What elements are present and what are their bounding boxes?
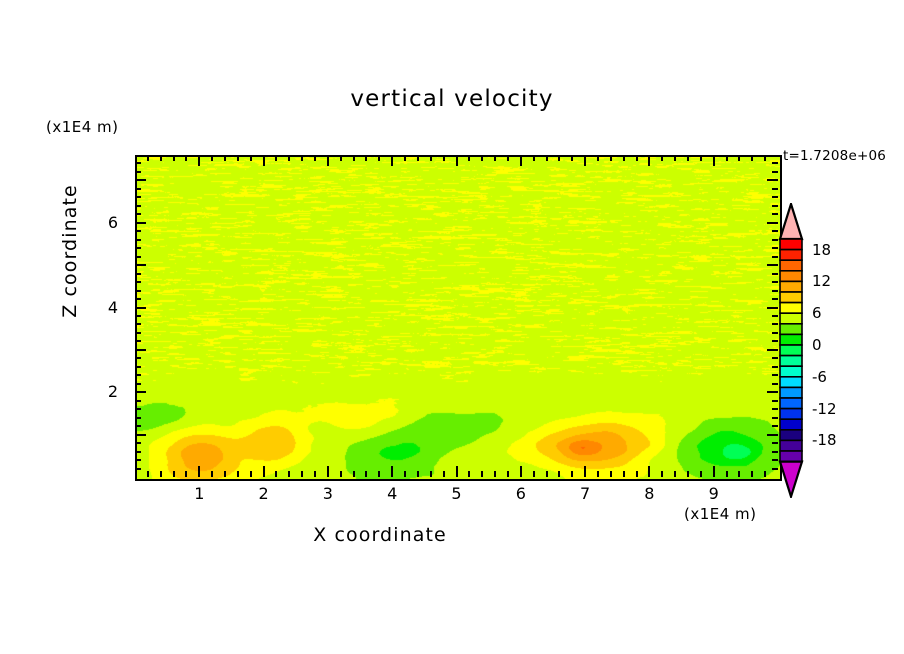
colorbar-band: [780, 324, 802, 335]
x-tick-label: 7: [570, 484, 600, 503]
colorbar-gradient: [778, 203, 804, 498]
colorbar-tick-label: 18: [812, 241, 831, 259]
colorbar-over-arrow: [780, 204, 802, 239]
x-axis-unit-label: (x1E4 m): [684, 505, 757, 523]
page-title: vertical velocity: [0, 86, 904, 112]
colorbar-band: [780, 419, 802, 430]
colorbar-band: [780, 440, 802, 451]
colorbar-band: [780, 451, 802, 462]
colorbar-band: [780, 260, 802, 271]
colorbar: 181260-6-12-18: [778, 203, 804, 498]
colorbar-band: [780, 366, 802, 377]
colorbar-tick-label: 6: [812, 304, 822, 322]
x-axis-title: X coordinate: [0, 524, 760, 546]
contour-field: [137, 157, 780, 479]
x-tick-label: 4: [377, 484, 407, 503]
colorbar-band: [780, 387, 802, 398]
figure-root: vertical velocity (x1E4 m) t=1.7208e+06 …: [0, 0, 904, 654]
y-tick-label: 4: [96, 298, 118, 317]
y-tick-label: 2: [96, 382, 118, 401]
plot-area: [135, 155, 782, 481]
y-axis-title: Z coordinate: [59, 151, 81, 351]
colorbar-under-arrow: [780, 462, 802, 497]
y-axis-unit-label: (x1E4 m): [46, 118, 119, 136]
y-tick-label: 6: [96, 213, 118, 232]
x-tick-label: 9: [699, 484, 729, 503]
colorbar-tick-label: -18: [812, 431, 837, 449]
colorbar-band: [780, 345, 802, 356]
colorbar-band: [780, 398, 802, 409]
x-tick-label: 5: [442, 484, 472, 503]
colorbar-tick-label: -6: [812, 368, 827, 386]
colorbar-band: [780, 292, 802, 303]
x-tick-label: 1: [184, 484, 214, 503]
colorbar-band: [780, 377, 802, 388]
colorbar-band: [780, 281, 802, 292]
x-tick-label: 2: [249, 484, 279, 503]
colorbar-band: [780, 303, 802, 314]
colorbar-tick-label: 0: [812, 336, 822, 354]
time-annotation: t=1.7208e+06: [783, 148, 886, 164]
colorbar-band: [780, 271, 802, 282]
x-tick-label: 6: [506, 484, 536, 503]
colorbar-tick-label: 12: [812, 272, 831, 290]
colorbar-band: [780, 250, 802, 261]
colorbar-band: [780, 409, 802, 420]
x-tick-label: 3: [313, 484, 343, 503]
colorbar-band: [780, 313, 802, 324]
colorbar-band: [780, 430, 802, 441]
colorbar-tick-label: -12: [812, 400, 837, 418]
x-tick-label: 8: [634, 484, 664, 503]
colorbar-band: [780, 356, 802, 367]
colorbar-band: [780, 334, 802, 345]
colorbar-band: [780, 239, 802, 250]
